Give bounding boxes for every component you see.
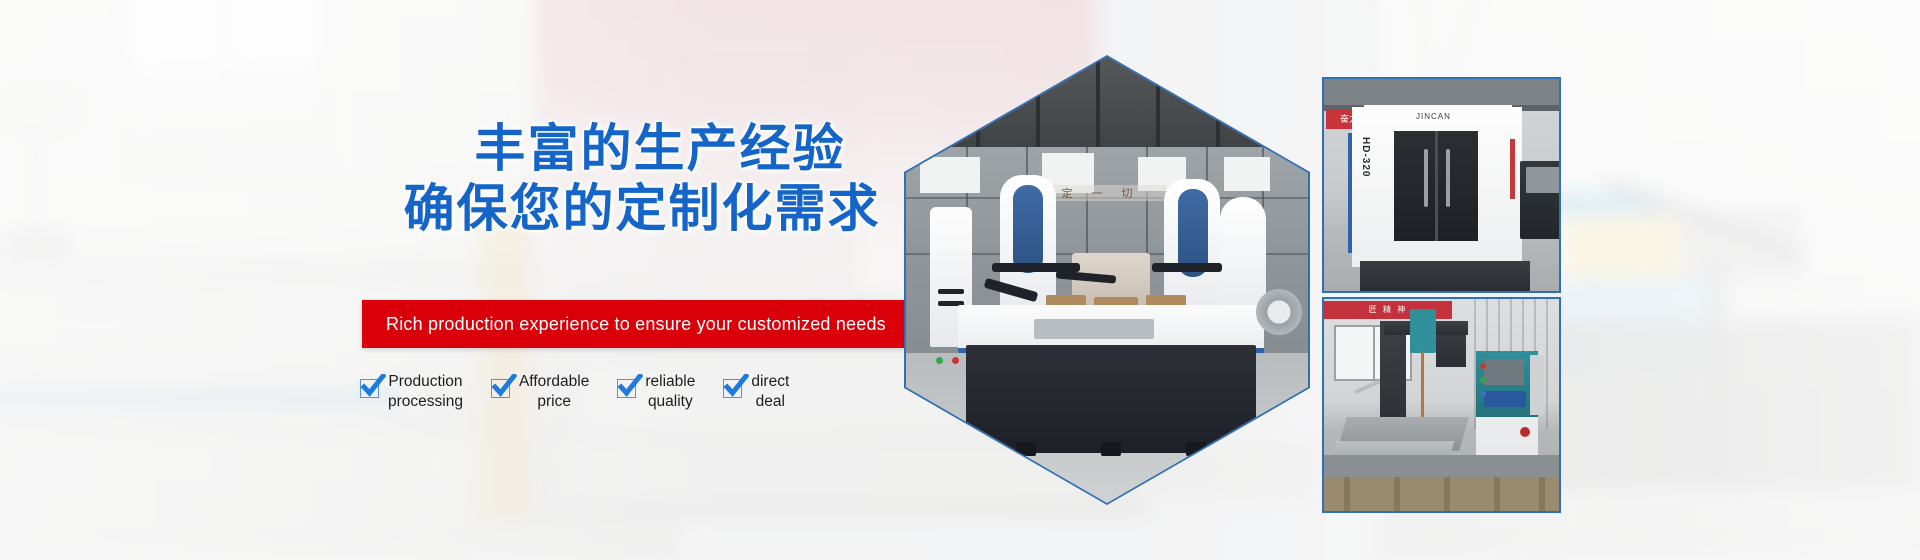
hexagon-machine-photo: 定 一 切: [904, 55, 1310, 505]
checkmark-icon: [723, 379, 742, 398]
machining-center-photo: 奋力 HD-320 JINCAN: [1322, 77, 1561, 293]
banner-text-column: 丰富的生产经验 确保您的定制化需求 Rich production experi…: [362, 120, 922, 240]
subtitle-text: Rich production experience to ensure you…: [362, 314, 886, 335]
feature-label: Affordable price: [519, 372, 589, 411]
checkmark-icon: [491, 379, 510, 398]
feature-label: reliable quality: [645, 372, 695, 411]
machine-model-label: HD-320: [1360, 137, 1371, 177]
subtitle-banner: Rich production experience to ensure you…: [362, 300, 905, 348]
promo-banner: 丰富的生产经验 确保您的定制化需求 Rich production experi…: [0, 0, 1920, 560]
headline-line-1: 丰富的生产经验: [362, 120, 922, 180]
hexagon-photo-content: 定 一 切: [906, 57, 1308, 503]
machine-brand-label: JINCAN: [1416, 112, 1451, 121]
feature-item-production-processing: Production processing: [360, 372, 463, 411]
feature-label: Production processing: [388, 372, 463, 411]
feature-list: Production processing Affordable price r…: [360, 372, 817, 411]
feature-item-reliable-quality: reliable quality: [617, 372, 695, 411]
headline-line-2: 确保您的定制化需求: [362, 180, 922, 240]
checkmark-icon: [360, 379, 379, 398]
page-title: 丰富的生产经验 确保您的定制化需求: [362, 120, 922, 240]
feature-item-direct-deal: direct deal: [723, 372, 789, 411]
feature-item-affordable-price: Affordable price: [491, 372, 589, 411]
checkmark-icon: [617, 379, 636, 398]
feature-label: direct deal: [751, 372, 789, 411]
edm-machine-photo: 匠 精 神: [1322, 297, 1561, 513]
